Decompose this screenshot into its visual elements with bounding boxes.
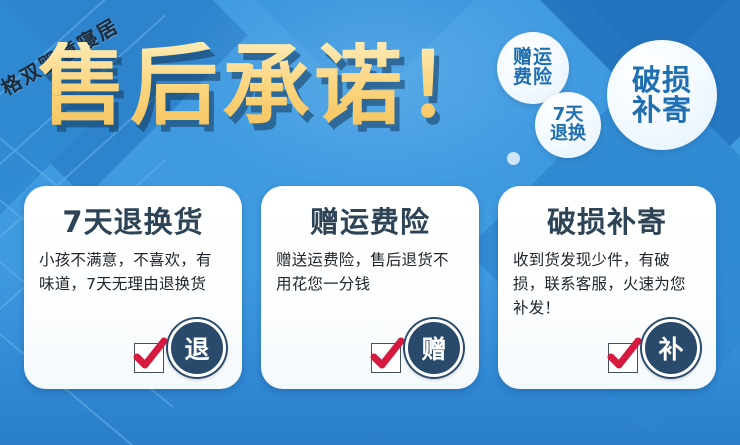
check-icon xyxy=(608,343,638,373)
seal-badge: 补 xyxy=(642,319,700,377)
card-body: 小孩不满意，不喜欢，有味道，7天无理由退换货 xyxy=(39,248,227,296)
decorative-dot xyxy=(507,152,520,165)
bubble-line-1: 赠运 xyxy=(513,48,553,68)
seal-badge: 退 xyxy=(168,319,226,377)
page-title: 售后承诺！ xyxy=(38,42,498,130)
seal-badge: 赠 xyxy=(405,319,463,377)
card-body: 赠送运费险，售后退货不用花您一分钱 xyxy=(276,248,464,296)
check-icon xyxy=(134,343,164,373)
promise-card-list: 7天退换货 小孩不满意，不喜欢，有味道，7天无理由退换货 退 赠运费险 赠送运费… xyxy=(0,186,740,389)
promise-card-insurance: 赠运费险 赠送运费险，售后退货不用花您一分钱 赠 xyxy=(261,186,479,389)
card-title: 赠运费险 xyxy=(276,199,464,241)
card-title: 7天退换货 xyxy=(39,199,227,241)
bubble-line-2: 费险 xyxy=(513,68,553,88)
promise-card-reship: 破损补寄 收到货发现少件，有破损，联系客服，火速为您补发！ 补 xyxy=(498,186,716,389)
card-body: 收到货发现少件，有破损，联系客服，火速为您补发！ xyxy=(513,248,701,320)
bubble-line-2: 补寄 xyxy=(632,95,692,125)
check-icon xyxy=(371,343,401,373)
after-sales-promise-banner: 格双婴童寝居 售后承诺！ 赠运 费险 7天 退换 破损 补寄 7天退换货 小孩不… xyxy=(0,0,740,445)
seven-day-return-bubble: 7天 退换 xyxy=(535,92,601,158)
damage-reship-bubble: 破损 补寄 xyxy=(607,40,717,150)
promise-card-return: 7天退换货 小孩不满意，不喜欢，有味道，7天无理由退换货 退 xyxy=(24,186,242,389)
bubble-line-2: 退换 xyxy=(550,125,586,144)
bubble-line-1: 破损 xyxy=(632,65,692,95)
card-title: 破损补寄 xyxy=(513,199,701,241)
